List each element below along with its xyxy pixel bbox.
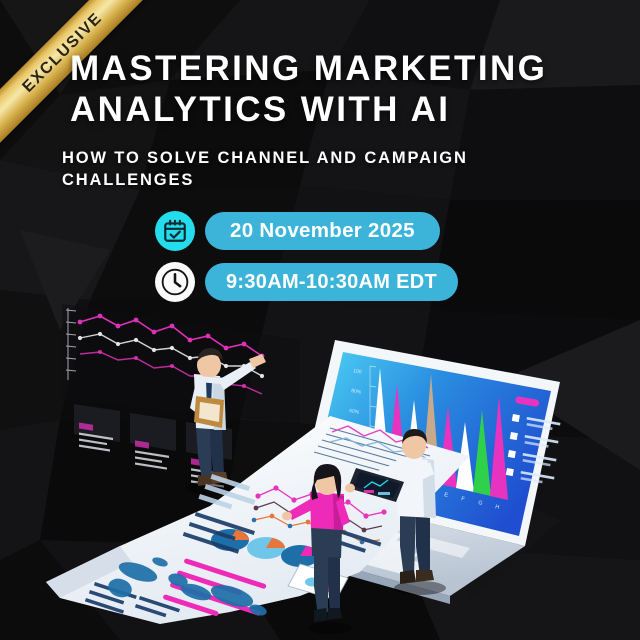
subtitle-line-1: HOW TO SOLVE CHANNEL AND CAMPAIGN xyxy=(62,147,602,169)
webinar-poster: EXCLUSIVE MASTERING MARKETING ANALYTICS … xyxy=(0,0,640,640)
title-line-2: ANALYTICS WITH AI xyxy=(70,89,630,130)
subtitle-line-2: CHALLENGES xyxy=(62,169,602,191)
event-details: 20 November 2025 9:30AM-10:30AM EDT xyxy=(155,211,458,302)
event-date-pill: 20 November 2025 xyxy=(205,212,440,250)
calendar-check-icon xyxy=(155,211,195,251)
holographic-screen xyxy=(62,304,300,488)
event-time-value: 9:30AM-10:30AM EDT xyxy=(226,271,437,294)
headline-block: MASTERING MARKETING ANALYTICS WITH AI xyxy=(70,48,630,130)
subtitle-block: HOW TO SOLVE CHANNEL AND CAMPAIGN CHALLE… xyxy=(62,147,602,191)
holo-card xyxy=(74,404,120,452)
event-date-value: 20 November 2025 xyxy=(230,219,415,243)
event-date-row: 20 November 2025 xyxy=(155,211,458,251)
title-line-1: MASTERING MARKETING xyxy=(70,48,630,89)
isometric-data-analytics-scene: 100 80% 60% 40% 20% xyxy=(0,296,640,640)
holo-card xyxy=(130,413,176,470)
